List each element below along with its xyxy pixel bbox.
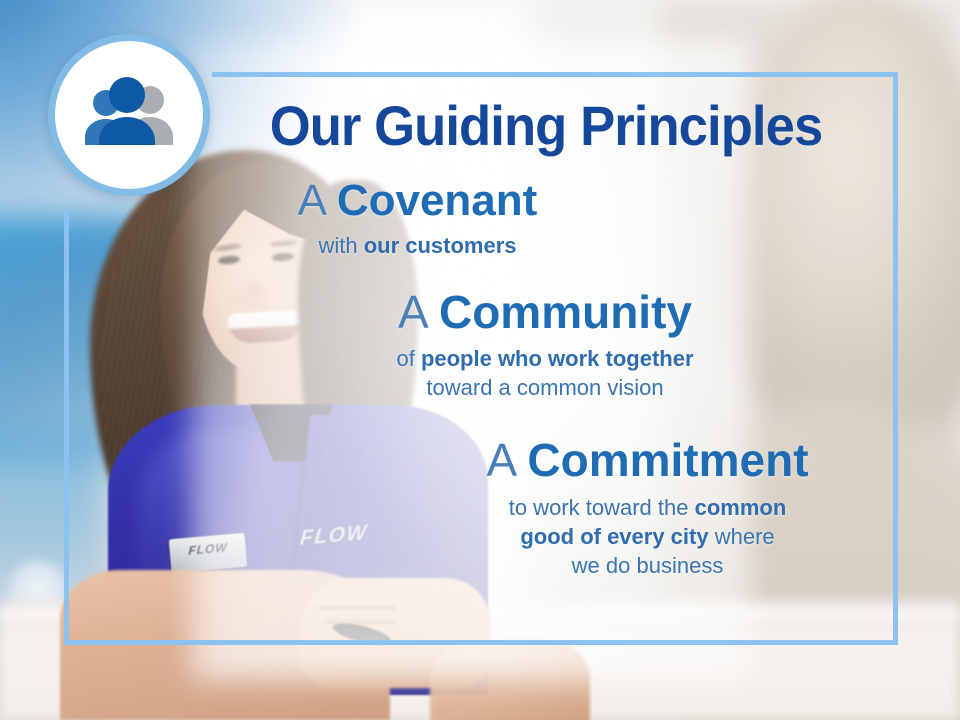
principle-text: with [318,233,363,258]
principle-text-bold: people who work together [421,346,694,371]
principle-article: A [398,286,439,338]
principle-article: A [298,176,337,225]
principle-heading: A Commitment [425,436,870,485]
principle-line: good of every city where [425,522,870,551]
principle-text: toward a common vision [426,375,663,400]
principle-line: to work toward the common [425,493,870,522]
principle-heading: A Covenant [190,178,645,225]
principle-keyword: Covenant [337,176,537,225]
principle-description: to work toward the common good of every … [425,493,870,580]
principle-keyword: Commitment [527,434,808,486]
principle-heading: A Community [300,288,790,337]
principle-line: with our customers [190,231,645,260]
principle-description: of people who work together toward a com… [300,344,790,402]
principle-article: A [486,434,527,486]
principle-text: of [396,346,420,371]
principle-covenant: A Covenant with our customers [190,178,880,260]
principle-line: we do business [425,551,870,580]
principle-description: with our customers [190,231,645,260]
principle-community: A Community of people who work together … [190,288,880,403]
principle-text: we do business [572,553,724,578]
principles-list: A Covenant with our customers A Communit… [190,178,880,590]
employee-finger-line [318,606,396,610]
customer-hand [430,640,590,720]
principle-line: of people who work together [300,344,790,373]
page-title: Our Guiding Principles [236,98,856,154]
principle-text: to work toward the [509,495,695,520]
guiding-principles-banner: FLOW FLOW [0,0,960,720]
principle-commitment: A Commitment to work toward the common g… [190,436,880,580]
principle-line: toward a common vision [300,373,790,402]
principle-text-bold: common [695,495,787,520]
principle-text-bold: good of every city [520,524,708,549]
principle-keyword: Community [439,286,692,338]
principle-text: where [709,524,775,549]
people-group-icon [77,76,181,154]
people-group-badge [48,34,210,196]
principle-text-bold: our customers [364,233,517,258]
